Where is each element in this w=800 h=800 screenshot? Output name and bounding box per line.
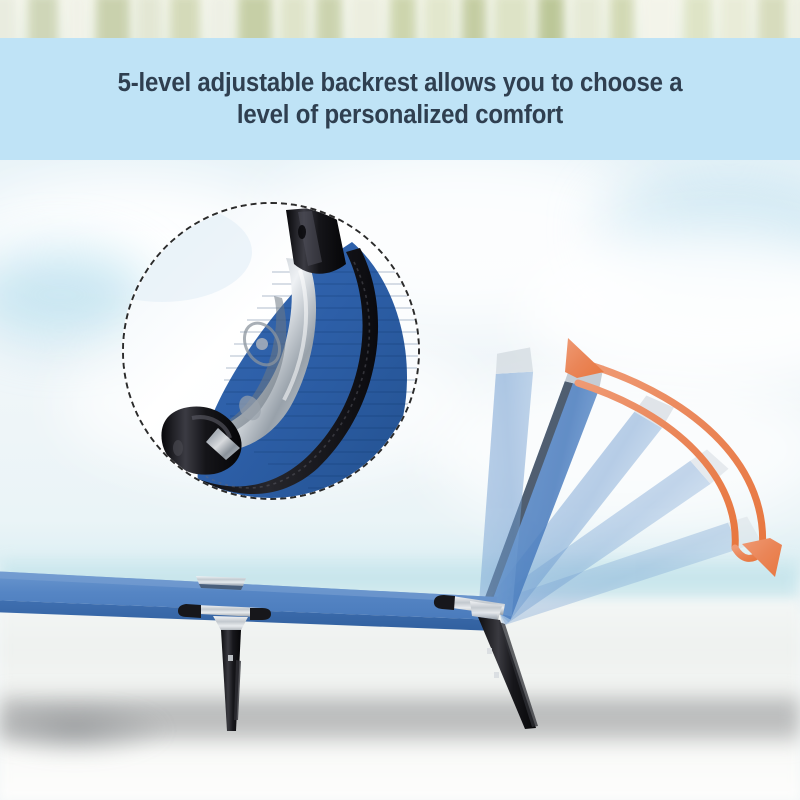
fabric-clip <box>196 576 246 590</box>
pivot-rivet <box>256 338 268 350</box>
hinge-detail-art <box>122 202 420 500</box>
headline-banner: 5-level adjustable backrest allows you t… <box>0 38 800 160</box>
headline-line-1: 5-level adjustable backrest allows you t… <box>118 69 683 97</box>
hinge-detail-inset <box>122 202 420 500</box>
cap-hole <box>173 440 183 456</box>
tube-hole <box>298 225 306 239</box>
headline-text: 5-level adjustable backrest allows you t… <box>52 67 748 131</box>
product-image: 5-level adjustable backrest allows you t… <box>0 0 800 800</box>
headline-line-2: level of personalized comfort <box>237 101 563 129</box>
bed-surface <box>0 571 497 631</box>
front-leg-assembly <box>178 604 271 731</box>
arrow-head-up <box>565 338 604 378</box>
